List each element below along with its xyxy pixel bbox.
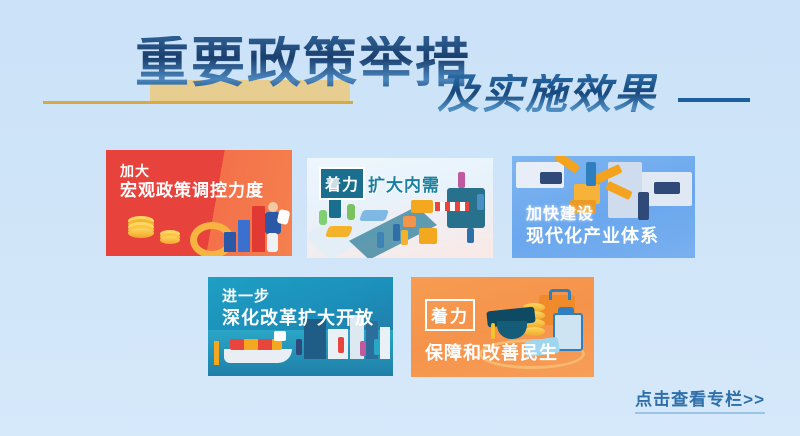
card-welfare-caption: 着力 保障和改善民生	[425, 299, 558, 365]
car-yellow-icon	[325, 226, 353, 237]
bar-chart-bar-1	[224, 232, 236, 252]
cargo-ship-hull-icon	[224, 349, 292, 363]
bar-chart-bar-2	[238, 220, 250, 252]
shopper-icon-1	[393, 224, 400, 241]
shopper-icon-6	[467, 228, 474, 243]
shopper-icon-2	[401, 230, 408, 245]
pedestrian-icon-2	[338, 337, 344, 353]
cargo-ship-bridge-icon	[274, 331, 286, 341]
machine-left-panel-icon	[540, 172, 562, 184]
card-deepen-reform[interactable]: 进一步 深化改革扩大开放	[208, 277, 393, 376]
bar-chart-bar-3	[252, 206, 265, 252]
coin-stack-small-icon	[160, 236, 180, 244]
card-industry-caption: 加快建设 现代化产业体系	[526, 205, 659, 247]
person-legs-icon	[267, 233, 278, 252]
billboard-icon	[329, 198, 341, 218]
shopper-icon-4	[458, 172, 465, 188]
tree-icon	[347, 204, 355, 220]
title-gold-rule	[43, 101, 353, 104]
coin-stack-icon	[128, 228, 154, 238]
card-macro-line2: 宏观政策调控力度	[120, 180, 264, 201]
card-reform-caption: 进一步 深化改革扩大开放	[222, 288, 374, 329]
car-blue-icon	[359, 210, 389, 221]
card-macro-policy[interactable]: 加大 宏观政策调控力度	[106, 150, 292, 256]
card-industry-line2: 现代化产业体系	[526, 225, 659, 247]
card-demand-line1: 着力	[319, 167, 365, 200]
package-box-icon-2	[403, 216, 416, 227]
medicine-bottle-cap-icon	[558, 307, 574, 315]
title-blue-rule	[678, 98, 750, 102]
pedestrian-icon-3	[360, 341, 366, 356]
card-expand-demand[interactable]: 着力 扩大内需	[307, 158, 493, 258]
pedestrian-icon-4	[374, 339, 380, 355]
card-industry-line1: 加快建设	[526, 205, 659, 225]
card-reform-line2: 深化改革扩大开放	[222, 307, 374, 329]
banner-title-area: 重要政策举措 及实施效果	[0, 0, 800, 140]
card-macro-line1: 加大	[120, 163, 264, 180]
card-welfare-line1: 着力	[425, 299, 475, 331]
pedestrian-icon-1	[296, 339, 302, 355]
banner-title-main: 重要政策举措	[135, 36, 471, 90]
shop-awning-icon	[435, 202, 469, 211]
banner-title-sub: 及实施效果	[437, 74, 657, 116]
card-demand-line2: 扩大内需	[368, 171, 440, 196]
card-demand-caption: 着力 扩大内需	[319, 167, 440, 200]
bar-marker-icon	[214, 341, 219, 365]
card-welfare-line2: 保障和改善民生	[425, 339, 558, 365]
card-modern-industry[interactable]: 加快建设 现代化产业体系	[512, 156, 695, 258]
card-improve-livelihood[interactable]: 着力 保障和改善民生	[411, 277, 594, 377]
card-macro-caption: 加大 宏观政策调控力度	[120, 163, 264, 201]
policy-banner: 重要政策举措 及实施效果 加大 宏观政策调控力度 着力 扩大内需	[0, 0, 800, 436]
person-head-icon	[268, 202, 278, 212]
person-clipboard-icon	[277, 209, 291, 225]
view-column-link[interactable]: 点击查看专栏>>	[635, 385, 765, 414]
card-reform-line1: 进一步	[222, 288, 374, 307]
package-box-icon	[419, 228, 437, 244]
worker-icon-1	[586, 162, 596, 186]
machine-right-panel-icon	[654, 182, 680, 194]
shopper-icon-5	[477, 194, 484, 210]
port-building-icon-5	[380, 327, 390, 359]
tree-icon-2	[319, 210, 327, 225]
shopper-icon-3	[377, 232, 384, 248]
delivery-truck-icon	[411, 200, 433, 213]
